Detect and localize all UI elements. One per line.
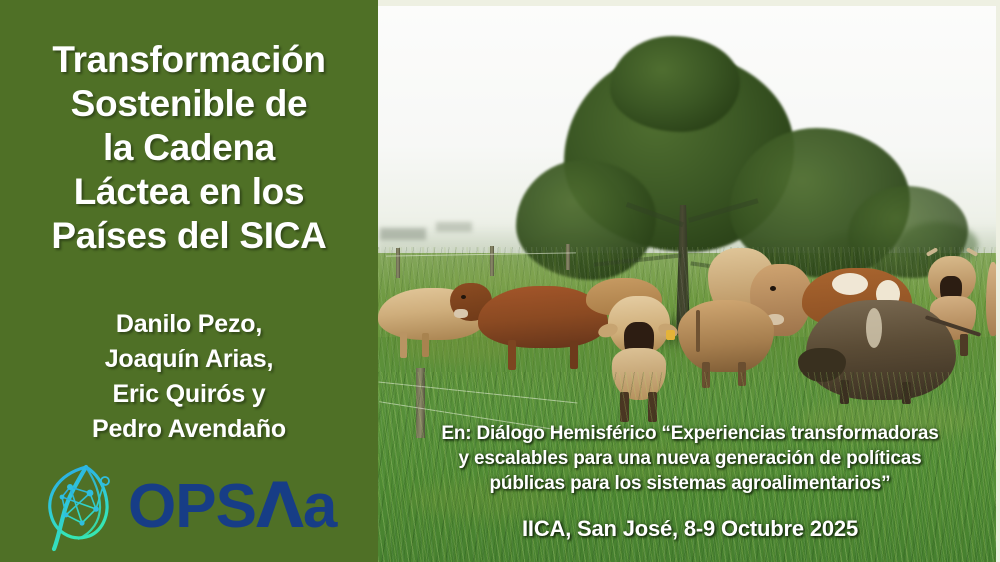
logo-word-lambda: Λ bbox=[256, 469, 303, 542]
cow-ear-tag bbox=[666, 330, 675, 340]
cow-eye bbox=[770, 286, 776, 291]
cow-muzzle bbox=[454, 309, 468, 318]
left-green-panel: Transformación Sostenible de la Cadena L… bbox=[0, 0, 378, 562]
fence-post-far-left bbox=[396, 248, 400, 278]
author-line-2: Joaquín Arias, bbox=[8, 342, 370, 377]
far-building bbox=[380, 228, 426, 240]
author-line-1: Danilo Pezo, bbox=[8, 307, 370, 342]
title-line-3: la Cadena bbox=[8, 126, 370, 170]
caption-block: En: Diálogo Hemisférico “Experiencias tr… bbox=[388, 421, 992, 496]
fence-post-mid bbox=[490, 246, 494, 276]
photo-right-border bbox=[996, 0, 1000, 562]
cow-white-patch-1 bbox=[832, 273, 868, 295]
author-line-4: Pedro Avendaño bbox=[8, 412, 370, 447]
far-building-2 bbox=[436, 222, 472, 232]
caption-line-2: y escalables para una nueva generación d… bbox=[388, 446, 992, 471]
tree-canopy-top bbox=[610, 36, 740, 132]
author-line-3: Eric Quirós y bbox=[8, 377, 370, 412]
title-line-4: Láctea en los bbox=[8, 170, 370, 214]
cow-hip-patch bbox=[866, 308, 882, 348]
opsaa-wordmark: OPSΛa bbox=[128, 475, 336, 538]
fence-post-right bbox=[566, 244, 570, 270]
title-line-2: Sostenible de bbox=[8, 82, 370, 126]
cow-tail bbox=[696, 310, 700, 352]
cow-eye bbox=[461, 295, 466, 299]
slide-title: Transformación Sostenible de la Cadena L… bbox=[8, 38, 370, 258]
leaf-network-icon bbox=[38, 459, 124, 553]
cow-rear-view bbox=[678, 300, 774, 372]
authors-list: Danilo Pezo, Joaquín Arias, Eric Quirós … bbox=[8, 307, 370, 447]
venue-and-date: IICA, San José, 8-9 Octubre 2025 bbox=[388, 516, 992, 542]
opsaa-logo: OPSΛa bbox=[38, 458, 328, 554]
caption-line-3: públicas para los sistemas agroalimentar… bbox=[388, 471, 992, 496]
presentation-slide: En: Diálogo Hemisférico “Experiencias tr… bbox=[0, 0, 1000, 562]
photo-top-border bbox=[378, 0, 1000, 6]
caption-line-1: En: Diálogo Hemisférico “Experiencias tr… bbox=[388, 421, 992, 446]
title-line-1: Transformación bbox=[8, 38, 370, 82]
title-line-5: Países del SICA bbox=[8, 214, 370, 258]
logo-word-suffix: a bbox=[303, 472, 336, 541]
logo-word-prefix: OPS bbox=[128, 472, 256, 541]
